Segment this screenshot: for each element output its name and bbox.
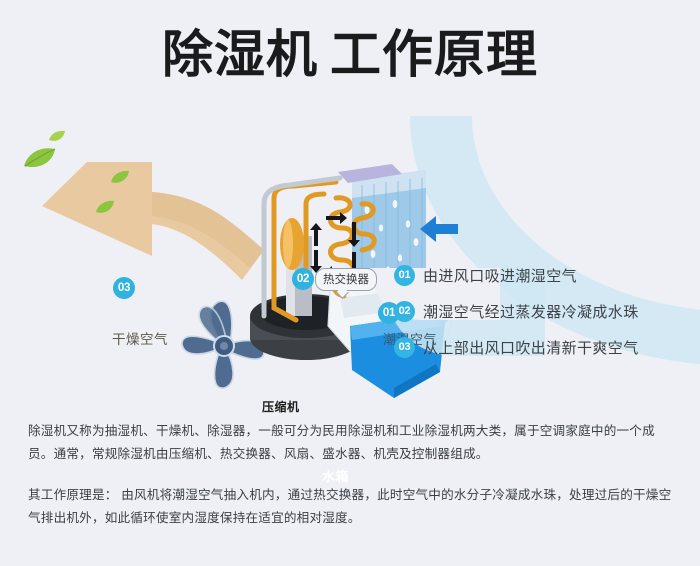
process-legend: 01 由进风口吸进潮湿空气 02 潮湿空气经过蒸发器冷凝成水珠 03 从上部出风… [394,257,694,365]
legend-item: 03 从上部出风口吹出清新干爽空气 [394,329,694,365]
legend-item: 02 潮湿空气经过蒸发器冷凝成水珠 [394,293,694,329]
title-part-2: 工作原理 [330,26,538,83]
legend-item: 01 由进风口吸进潮湿空气 [394,257,694,293]
description-paragraph-2: 其工作原理是： 由风机将潮湿空气抽入机内，通过热交换器，此时空气中的水分子冷凝成… [28,484,676,530]
legend-badge-03: 03 [394,337,415,358]
leaf-icon [95,200,115,215]
description-paragraph-1: 除湿机又称为抽湿机、干燥机、除湿器，一般可分为民用除湿机和工业除湿机两大类，属于… [28,420,676,466]
title-part-1: 除湿机 [162,26,318,83]
page-title: 除湿机工作原理 [0,26,700,84]
legend-text-03: 从上部出风口吹出清新干爽空气 [423,337,639,358]
legend-text-01: 由进风口吸进潮湿空气 [423,265,577,286]
legend-badge-01: 01 [394,265,415,286]
heat-exchanger-callout: 热交换器 [315,268,377,291]
description-block: 除湿机又称为抽湿机、干燥机、除湿器，一般可分为民用除湿机和工业除湿机两大类，属于… [28,420,676,530]
diagram-badge-02: 02 [292,268,314,290]
label-dry-air: 干燥空气 [112,328,168,348]
leaf-icon [48,130,66,143]
leaf-icon [110,170,130,185]
label-compressor: 压缩机 [262,398,300,415]
leaf-icon [22,146,58,170]
diagram-badge-03: 03 [113,277,135,299]
legend-badge-02: 02 [394,301,415,322]
legend-text-02: 潮湿空气经过蒸发器冷凝成水珠 [423,301,639,322]
